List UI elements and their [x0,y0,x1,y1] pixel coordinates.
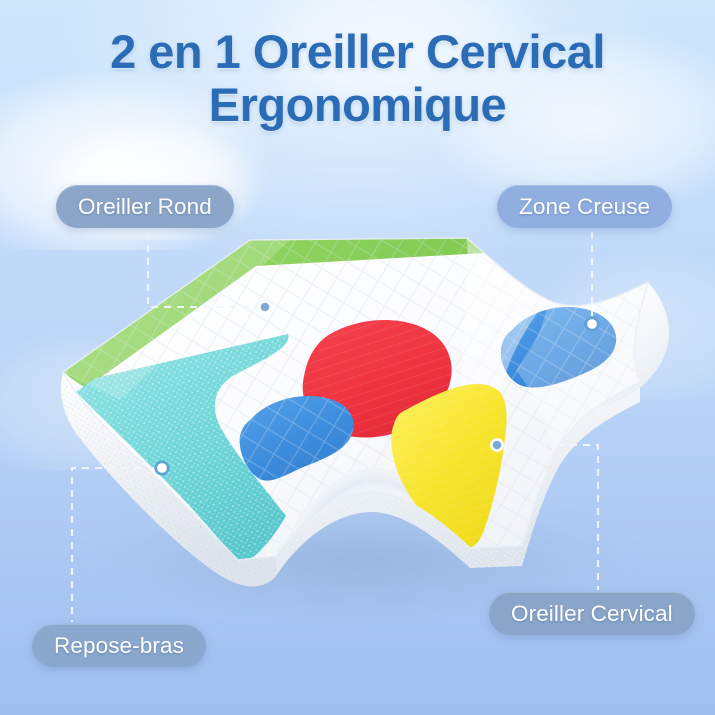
callout-pill-oreiller-rond[interactable]: Oreiller Rond [56,185,234,228]
callout-pill-repose-bras[interactable]: Repose-bras [32,624,206,667]
callout-pill-oreiller-cervical[interactable]: Oreiller Cervical [489,592,695,635]
callout-label: Repose-bras [54,633,184,659]
infographic-canvas: 2 en 1 Oreiller Cervical Ergonomique [0,0,715,715]
page-title: 2 en 1 Oreiller Cervical Ergonomique [0,26,715,131]
title-line-2: Ergonomique [0,79,715,132]
title-line-1: 2 en 1 Oreiller Cervical [110,25,605,78]
callout-label: Oreiller Cervical [511,601,673,627]
callout-label: Oreiller Rond [78,194,212,220]
callout-label: Zone Creuse [519,194,650,220]
callout-pill-zone-creuse[interactable]: Zone Creuse [497,185,672,228]
